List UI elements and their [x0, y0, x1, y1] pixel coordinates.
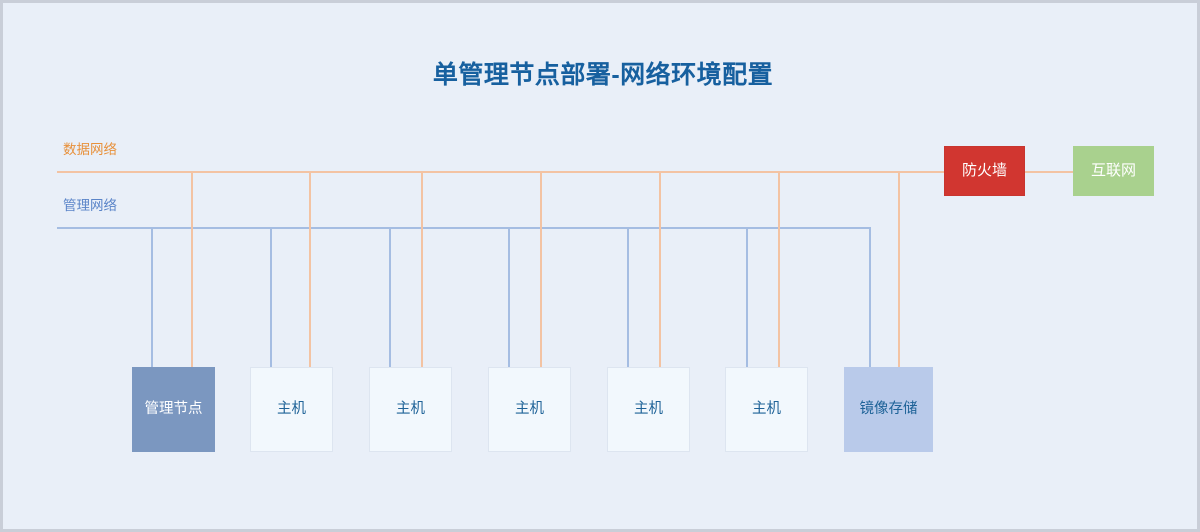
- data-network-label: 数据网络: [63, 138, 117, 158]
- node-label: 互联网: [1091, 162, 1136, 180]
- node-host-5[interactable]: 主机: [725, 367, 808, 452]
- management-connector-image-storage: [869, 227, 871, 367]
- page-title: 单管理节点部署-网络环境配置: [3, 55, 1200, 91]
- node-image-storage[interactable]: 镜像存储: [844, 367, 933, 452]
- node-management-node[interactable]: 管理节点: [132, 367, 215, 452]
- node-label: 主机: [515, 401, 544, 418]
- node-internet[interactable]: 互联网: [1073, 146, 1154, 196]
- data-connector-host-1: [309, 171, 311, 367]
- data-connector-host-2: [421, 171, 423, 367]
- node-host-2[interactable]: 主机: [369, 367, 452, 452]
- management-connector-host-3: [508, 227, 510, 367]
- data-connector-host-4: [659, 171, 661, 367]
- management-connector-host-1: [270, 227, 272, 367]
- data-connector-image-storage: [898, 171, 900, 367]
- data-connector-host-3: [540, 171, 542, 367]
- node-label: 防火墙: [962, 162, 1007, 180]
- management-connector-host-4: [627, 227, 629, 367]
- management-connector-management-node: [151, 227, 153, 367]
- management-connector-host-2: [389, 227, 391, 367]
- node-label: 主机: [396, 401, 425, 418]
- management-connector-host-5: [746, 227, 748, 367]
- link-firewall-internet-link: [1025, 171, 1073, 173]
- node-label: 主机: [277, 401, 306, 418]
- node-label: 主机: [752, 401, 781, 418]
- node-label: 管理节点: [145, 401, 203, 418]
- management-network-label: 管理网络: [63, 194, 117, 214]
- node-label: 主机: [634, 401, 663, 418]
- node-host-1[interactable]: 主机: [250, 367, 333, 452]
- node-firewall[interactable]: 防火墙: [944, 146, 1025, 196]
- diagram-canvas: 单管理节点部署-网络环境配置 数据网络 管理网络 管理节点主机主机主机主机主机镜…: [0, 0, 1200, 532]
- node-label: 镜像存储: [860, 401, 918, 418]
- data-connector-host-5: [778, 171, 780, 367]
- data-connector-management-node: [191, 171, 193, 367]
- node-host-4[interactable]: 主机: [607, 367, 690, 452]
- node-host-3[interactable]: 主机: [488, 367, 571, 452]
